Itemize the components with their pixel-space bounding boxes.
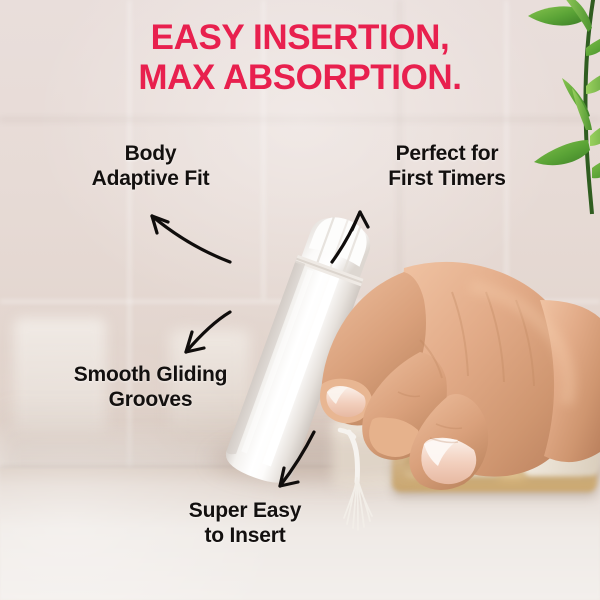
- callout-line-1: Body: [125, 142, 177, 165]
- callout-line-1: Perfect for: [396, 142, 499, 165]
- callout-perfect-first-timers: Perfect for First Timers: [352, 141, 542, 191]
- callout-line-2: Adaptive Fit: [48, 166, 253, 191]
- curved-arrow-up-right-icon: [330, 196, 438, 272]
- callout-line-1: Smooth Gliding: [74, 363, 228, 386]
- headline-line-1: EASY INSERTION,: [0, 18, 600, 58]
- curved-arrow-up-left-icon: [126, 196, 238, 270]
- product-feature-image: EASY INSERTION, MAX ABSORPTION. Body Ada…: [0, 0, 600, 600]
- callout-smooth-gliding-grooves: Smooth Gliding Grooves: [38, 362, 263, 412]
- headline-line-2: MAX ABSORPTION.: [0, 58, 600, 98]
- callout-line-2: Grooves: [38, 387, 263, 412]
- callout-body-adaptive-fit: Body Adaptive Fit: [48, 141, 253, 191]
- callout-line-2: First Timers: [352, 166, 542, 191]
- callout-super-easy-to-insert: Super Easy to Insert: [145, 498, 345, 548]
- headline: EASY INSERTION, MAX ABSORPTION.: [0, 18, 600, 98]
- callout-line-2: to Insert: [145, 523, 345, 548]
- callout-line-1: Super Easy: [189, 499, 301, 522]
